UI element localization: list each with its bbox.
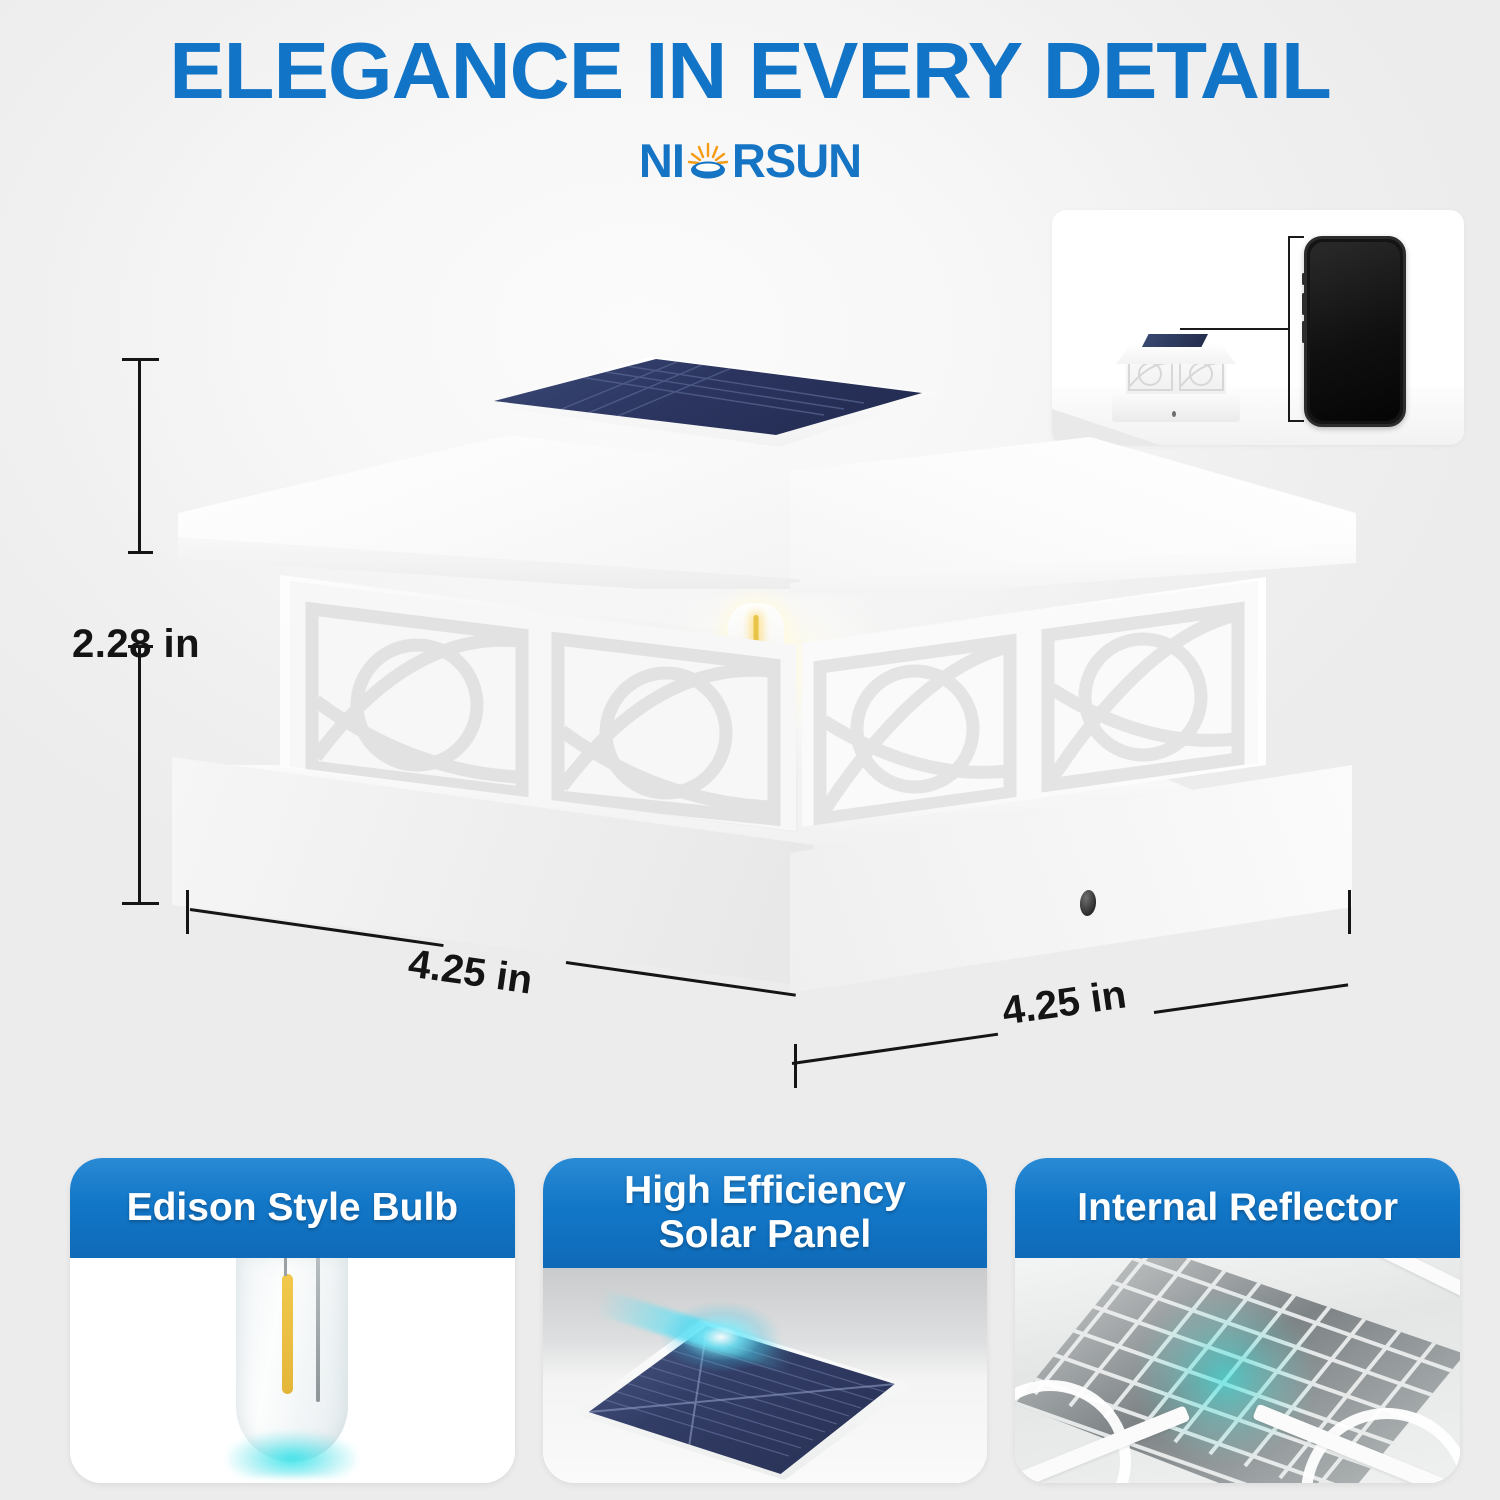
width-right-tick-end: [1348, 890, 1351, 934]
solar-panel-grid-lines: [494, 359, 922, 435]
width-left-tick-start: [186, 890, 189, 934]
bulb-led-filament: [282, 1274, 293, 1394]
phone-volume-up-button: [1302, 293, 1305, 315]
edison-bulb-photo: [70, 1258, 515, 1483]
internal-reflector-photo: [1015, 1258, 1460, 1483]
solar-panel-photo: [543, 1268, 988, 1483]
comparison-bracket-top: [1288, 236, 1304, 238]
lattice-panel-right-icon: [802, 581, 1258, 850]
comparison-leader-line: [1180, 328, 1290, 330]
page-title: ELEGANCE IN EVERY DETAIL: [0, 28, 1500, 114]
width-dimension-tick-center: [794, 1044, 797, 1088]
feature-card-header: High Efficiency Solar Panel: [543, 1158, 988, 1268]
brand-name-prefix: NI: [639, 137, 684, 184]
feature-card-title: Edison Style Bulb: [117, 1186, 469, 1230]
brand-name-suffix: RSUN: [732, 137, 861, 184]
bulb-cyan-glow: [227, 1431, 357, 1477]
feature-card-header: Edison Style Bulb: [70, 1158, 515, 1258]
feature-card-edison-bulb[interactable]: Edison Style Bulb: [70, 1158, 515, 1483]
phone-mute-switch: [1302, 273, 1305, 285]
bulb-support-wire: [316, 1258, 320, 1402]
height-dimension-tick-upper: [128, 551, 153, 554]
product-infographic: ELEGANCE IN EVERY DETAIL NI: [0, 0, 1500, 1500]
product-hero-image: [150, 345, 1400, 1085]
lattice-panel-left-icon: [290, 581, 796, 854]
height-dimension-line-upper: [138, 358, 141, 554]
height-dimension-cap-bottom: [122, 902, 159, 905]
reflector-cyan-glow: [1135, 1292, 1315, 1462]
feature-card-title: High Efficiency Solar Panel: [614, 1169, 916, 1257]
feature-card-internal-reflector[interactable]: Internal Reflector: [1015, 1158, 1460, 1483]
feature-card-header: Internal Reflector: [1015, 1158, 1460, 1258]
height-dimension-line-lower: [138, 645, 141, 905]
sun-logo-icon: [685, 137, 731, 183]
bulb-lead-wire: [284, 1258, 287, 1276]
feature-card-row: Edison Style Bulb High Efficiency Solar …: [70, 1158, 1460, 1483]
sunlight-flare-icon: [661, 1302, 781, 1372]
feature-card-solar-panel[interactable]: High Efficiency Solar Panel: [543, 1158, 988, 1483]
feature-card-title: Internal Reflector: [1067, 1186, 1408, 1230]
brand-logo: NI RSUN: [0, 132, 1500, 188]
phone-volume-down-button: [1302, 321, 1305, 343]
